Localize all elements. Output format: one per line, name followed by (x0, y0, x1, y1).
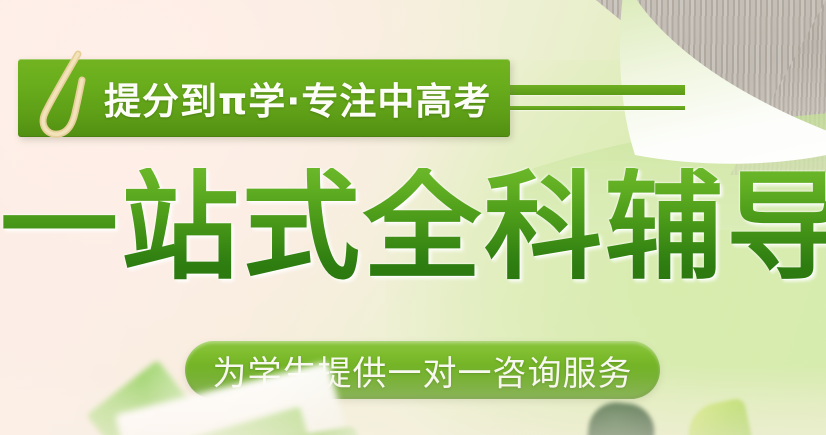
page-title-text: 一站式全科辅导 (0, 168, 826, 286)
tagline-text: 提分到π学·专注中高考 (104, 71, 491, 125)
subtitle-text: 为学生提供一对一咨询服务 (213, 346, 633, 395)
banner-accent-line-thick (495, 85, 685, 95)
paperclip-icon (30, 50, 98, 142)
subtitle-pill: 为学生提供一对一咨询服务 (185, 341, 660, 399)
tagline-banner: 提分到π学·专注中高考 (18, 59, 510, 137)
banner-accent-lines (495, 85, 685, 111)
page-title: 一站式全科辅导 (0, 168, 826, 286)
banner-accent-line-thin (495, 106, 685, 110)
promotional-poster: 提分到π学·专注中高考 一站式全科辅导 为学生提供一对一咨询服务 (0, 0, 826, 435)
